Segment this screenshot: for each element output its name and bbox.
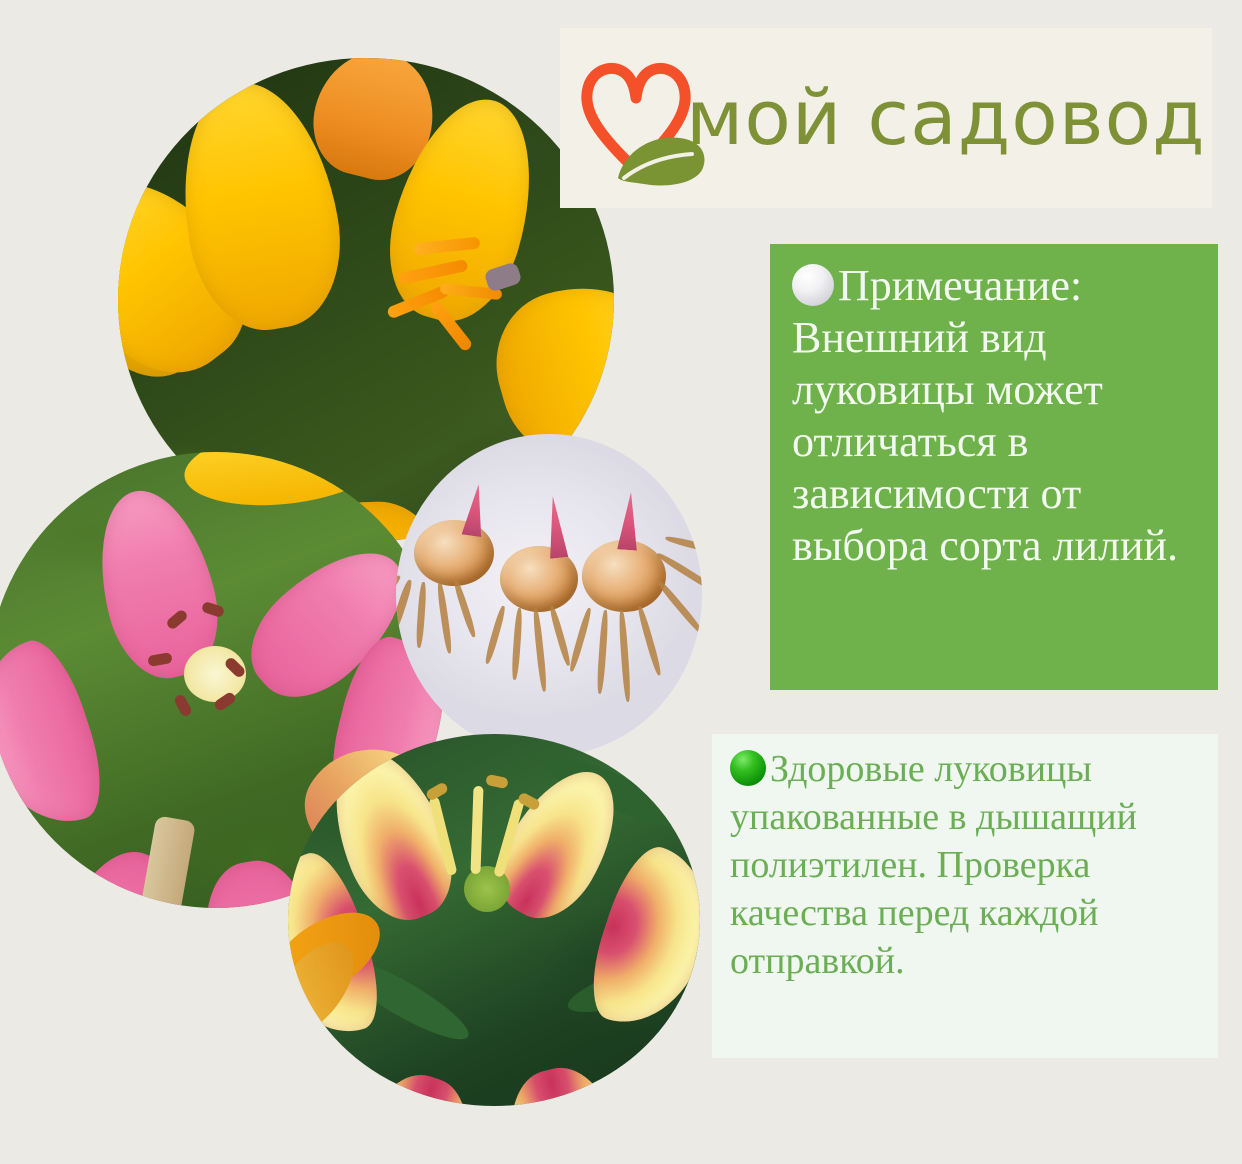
note-text-block: Примечание: Внешний вид луковицы может о…: [792, 260, 1200, 571]
white-sphere-bullet-icon: [792, 264, 834, 306]
poster-canvas: мой садовод Примечание: Внешний вид луко…: [0, 0, 1242, 1164]
brand-name: мой садовод: [686, 80, 1206, 156]
photo-bicolor-lily: [288, 734, 700, 1106]
leaf-icon: [614, 128, 710, 188]
photo-lily-bulbs: [396, 434, 702, 756]
quality-text: Здоровые луковицы упакованные в дышащий …: [730, 748, 1137, 982]
quality-callout-box: Здоровые луковицы упакованные в дышащий …: [712, 734, 1218, 1058]
note-text: Примечание: Внешний вид луковицы может о…: [792, 261, 1178, 570]
quality-text-block: Здоровые луковицы упакованные в дышащий …: [730, 746, 1204, 985]
brand-logo: мой садовод: [560, 28, 1212, 208]
note-callout-box: Примечание: Внешний вид луковицы может о…: [770, 244, 1218, 690]
bulb: [582, 540, 666, 612]
heart-leaf-logo-mark: [578, 48, 696, 188]
bulb: [414, 520, 494, 586]
green-sphere-bullet-icon: [730, 750, 766, 786]
